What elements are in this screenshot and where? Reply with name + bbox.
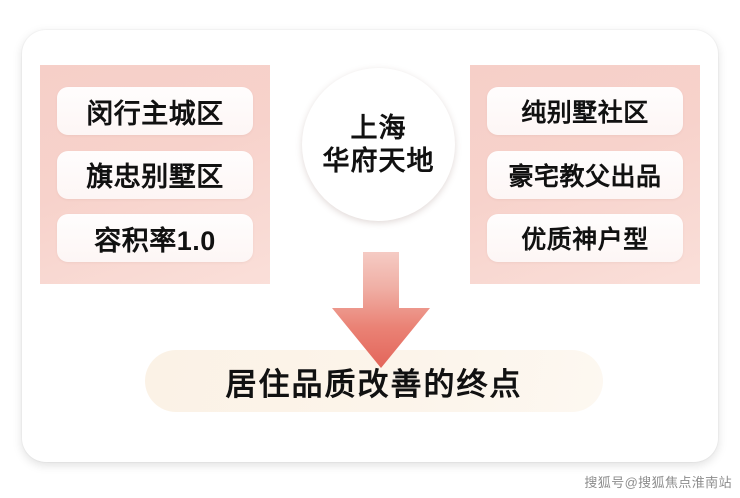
right-feature-panel: 纯别墅社区 豪宅教父出品 优质神户型 [470,65,700,284]
project-name-line-2: 华府天地 [323,145,435,178]
infographic-card: 闵行主城区 旗忠别墅区 容积率1.0 纯别墅社区 豪宅教父出品 优质神户型 [22,30,718,462]
feature-chip[interactable]: 纯别墅社区 [487,87,683,135]
left-feature-panel: 闵行主城区 旗忠别墅区 容积率1.0 [40,65,270,284]
feature-chip-label: 闵行主城区 [86,92,224,131]
feature-chip-label: 纯别墅社区 [521,93,649,129]
watermark-text: 搜狐号@搜狐焦点淮南站 [584,472,732,491]
feature-chip-label: 豪宅教父出品 [508,157,661,193]
left-chip-stack: 闵行主城区 旗忠别墅区 容积率1.0 [40,65,270,284]
project-name-line-1: 上海 [351,112,407,145]
right-chip-stack: 纯别墅社区 豪宅教父出品 优质神户型 [470,65,700,284]
feature-chip[interactable]: 旗忠别墅区 [57,151,253,199]
feature-chip[interactable]: 闵行主城区 [57,87,253,135]
feature-chip-label: 优质神户型 [521,220,649,256]
feature-chip[interactable]: 优质神户型 [487,214,683,262]
feature-chip-label: 容积率1.0 [94,219,216,258]
feature-chip[interactable]: 豪宅教父出品 [487,151,683,199]
feature-chip-label: 旗忠别墅区 [86,155,224,194]
feature-chip[interactable]: 容积率1.0 [57,214,253,262]
arrow-down-icon [332,252,430,368]
center-project-badge: 上海 华府天地 [302,68,455,221]
